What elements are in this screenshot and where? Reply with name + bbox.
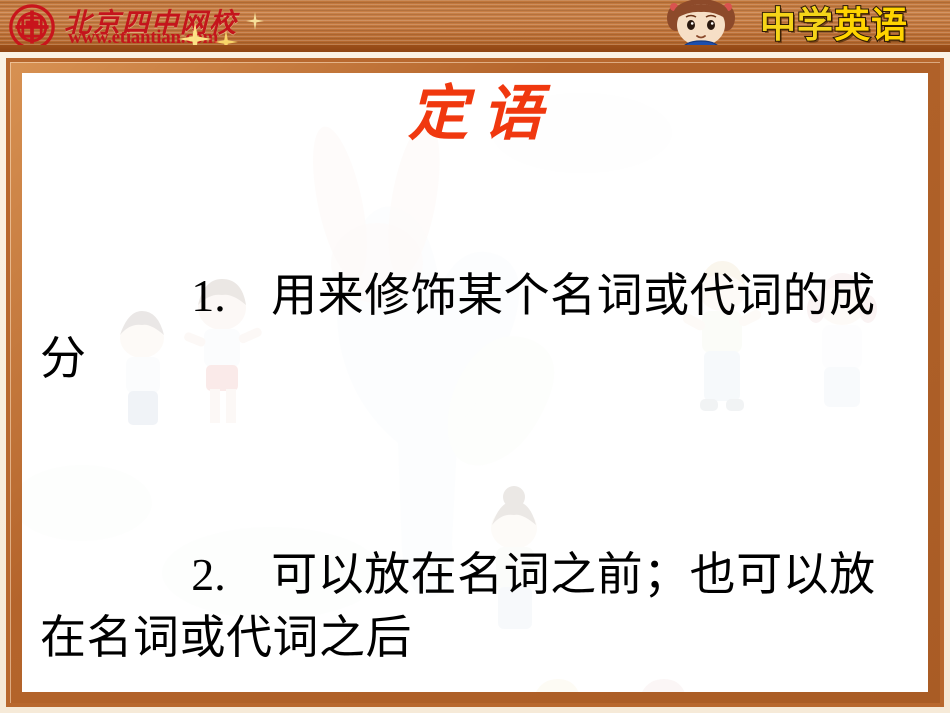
list-item: 1. 用来修饰某个名词或代词的成分 [40,201,920,453]
list-item: 2. 可以放在名词之前；也可以放在名词或代词之后 [40,480,920,692]
school-emblem-icon [9,4,55,50]
bullet-list: 1. 用来修饰某个名词或代词的成分 2. 可以放在名词之前；也可以放在名词或代词… [40,201,920,692]
list-item-text: 可以放在名词之前；也可以放在名词或代词之后 [40,547,876,664]
slide-canvas: 定语 1. 用来修饰某个名词或代词的成分 2. 可以放在名词之前；也可以放在名词… [22,73,928,692]
slide-content: 定语 1. 用来修饰某个名词或代词的成分 2. 可以放在名词之前；也可以放在名词… [22,73,928,692]
list-item-number: 2. [191,549,226,600]
page-title: 定语 [22,75,928,153]
list-item-text: 用来修饰某个名词或代词的成分 [40,268,876,385]
subject-part2: 英语 [834,5,908,46]
subject-label: 中学英语 [760,2,908,50]
header-bottom-edge [0,45,950,52]
presentation-slide: 北京四中网校 www.etiantian.com [0,0,950,713]
header-banner: 北京四中网校 www.etiantian.com [0,0,950,52]
list-item-number: 1. [191,270,226,321]
brand-text: 北京四中网校 www.etiantian.com [64,1,254,51]
subject-part1: 中学 [760,5,834,46]
